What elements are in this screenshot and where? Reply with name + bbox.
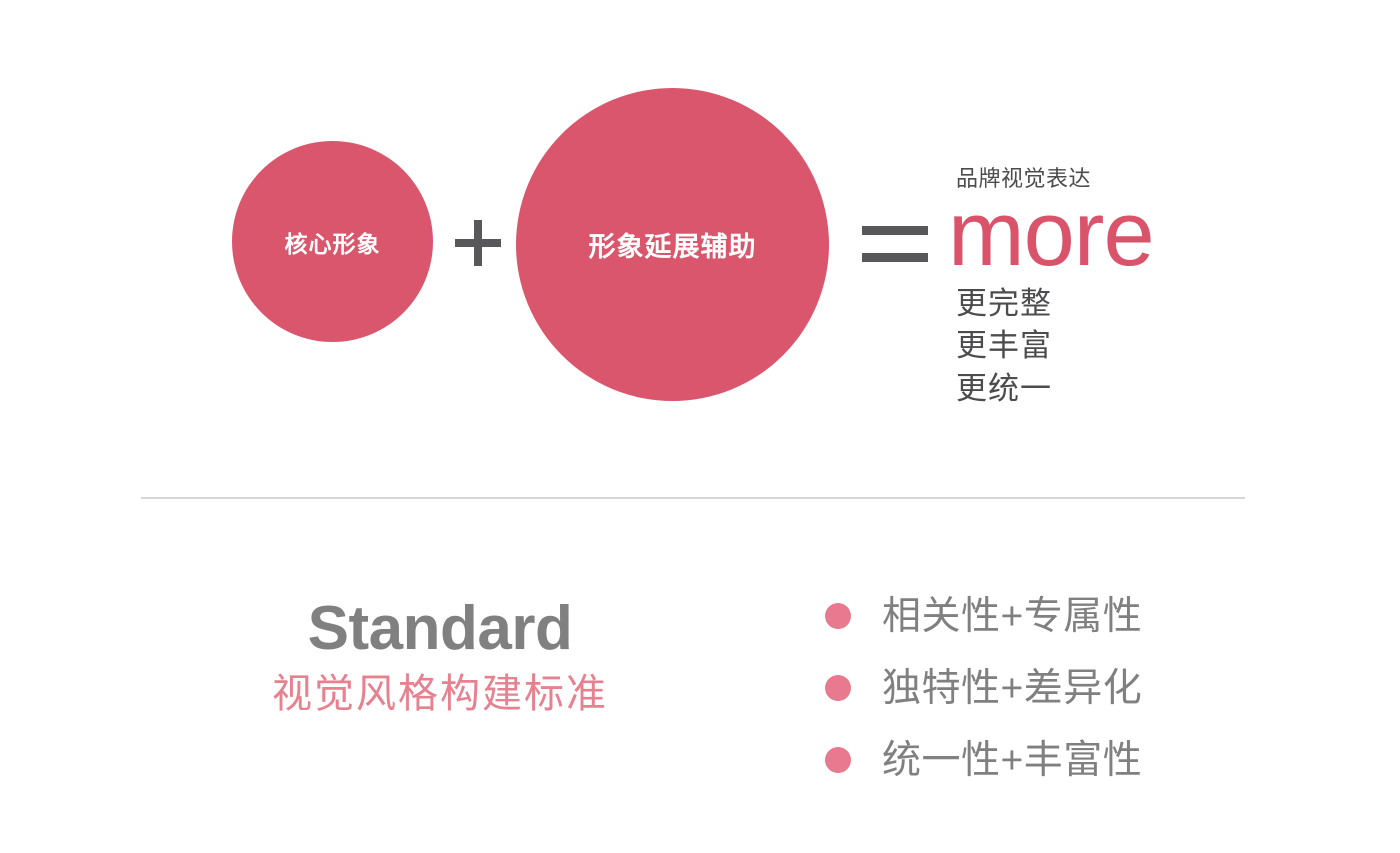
list-item: 统一性+丰富性	[825, 724, 1265, 796]
list-item: 相关性+专属性	[825, 580, 1265, 652]
bullet-dot-icon	[825, 603, 851, 629]
bullet-dot-icon	[825, 747, 851, 773]
extension-image-circle-label: 形象延展辅助	[589, 225, 757, 264]
core-image-circle-label: 核心形象	[285, 225, 381, 259]
equals-icon-bottom-bar	[862, 253, 928, 262]
result-lines: 更完整 更丰富 更统一	[956, 283, 1278, 411]
standard-points-list: 相关性+专属性 独特性+差异化 统一性+丰富性	[825, 580, 1265, 796]
list-item: 独特性+差异化	[825, 652, 1265, 724]
slide-canvas: 核心形象 形象延展辅助 品牌视觉表达 more 更完整 更丰富 更统一 S	[0, 0, 1400, 853]
formula-section: 核心形象 形象延展辅助 品牌视觉表达 more 更完整 更丰富 更统一	[0, 0, 1400, 470]
list-item-label: 统一性+丰富性	[882, 741, 1142, 780]
standard-heading-block: Standard 视觉风格构建标准	[180, 598, 700, 718]
standard-section: Standard 视觉风格构建标准 相关性+专属性 独特性+差异化 统一性+丰富…	[0, 500, 1400, 853]
result-word: more	[948, 192, 1278, 277]
plus-icon-vertical-bar	[474, 220, 482, 266]
core-image-circle: 核心形象	[232, 141, 433, 342]
plus-icon	[455, 220, 501, 266]
result-line: 更丰富	[956, 325, 1278, 368]
equals-icon	[862, 222, 928, 266]
section-divider	[141, 497, 1245, 499]
standard-title: Standard	[180, 598, 700, 660]
extension-image-circle: 形象延展辅助	[516, 88, 829, 401]
list-item-label: 相关性+专属性	[882, 597, 1142, 636]
standard-subtitle: 视觉风格构建标准	[180, 670, 700, 718]
result-line: 更统一	[956, 368, 1278, 411]
result-block: 品牌视觉表达 more 更完整 更丰富 更统一	[948, 168, 1278, 411]
bullet-dot-icon	[825, 675, 851, 701]
list-item-label: 独特性+差异化	[882, 669, 1142, 708]
result-line: 更完整	[956, 283, 1278, 326]
equals-icon-top-bar	[862, 226, 928, 235]
